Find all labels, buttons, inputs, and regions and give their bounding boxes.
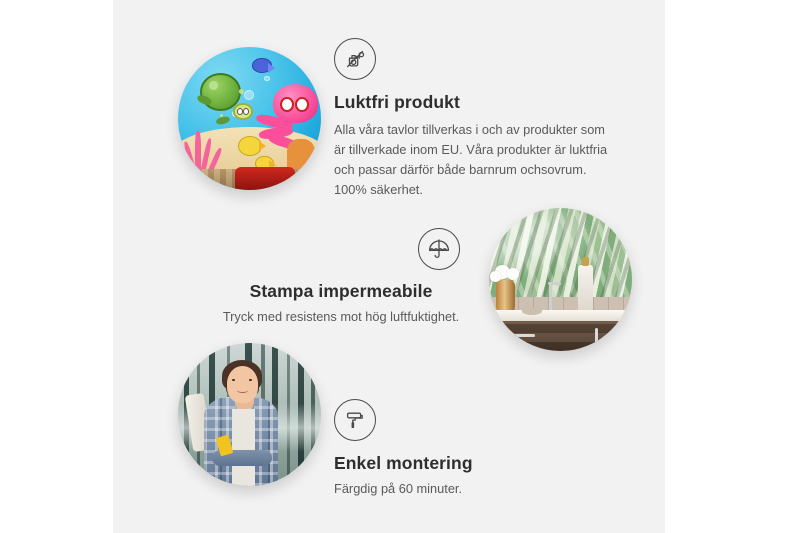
octopus-illustration bbox=[258, 84, 318, 147]
feature-block-waterproof: Stampa impermeabile Tryck med resistens … bbox=[196, 228, 486, 327]
feature-description: Alla våra tavlor tillverkas i och av pro… bbox=[334, 120, 619, 200]
feature-title: Enkel montering bbox=[334, 453, 604, 474]
cabinet-handle bbox=[512, 334, 535, 337]
feature-description: Tryck med resistens mot hög luftfuktighe… bbox=[196, 307, 486, 327]
room-furniture bbox=[235, 167, 295, 190]
coral-illustration bbox=[287, 139, 316, 170]
soap-bottle bbox=[578, 265, 594, 311]
coral-illustration bbox=[187, 129, 224, 172]
feature-title: Stampa impermeabile bbox=[196, 281, 486, 302]
cabinet-handle bbox=[595, 328, 598, 344]
product-image-installer bbox=[178, 343, 321, 486]
turtle-illustration bbox=[197, 73, 254, 122]
paint-roller-icon bbox=[334, 399, 376, 441]
blue-fish-illustration bbox=[252, 58, 272, 72]
person-face bbox=[227, 366, 258, 403]
faucet bbox=[549, 282, 552, 311]
yellow-fish-illustration bbox=[238, 136, 262, 156]
bubble-icon bbox=[264, 76, 270, 82]
white-flowers bbox=[489, 262, 523, 285]
feature-showcase: Luktfri produkt Alla våra tavlor tillver… bbox=[0, 0, 800, 533]
feature-description: Färgdig på 60 minuter. bbox=[334, 479, 604, 499]
person-inner-shirt bbox=[232, 409, 255, 486]
person-smile bbox=[237, 387, 248, 393]
product-image-aquatic bbox=[178, 47, 321, 190]
no-perfume-icon bbox=[334, 38, 376, 80]
product-image-bathroom bbox=[489, 208, 632, 351]
feature-title: Luktfri produkt bbox=[334, 92, 634, 113]
feature-block-mounting: Enkel montering Färgdig på 60 minuter. bbox=[334, 399, 604, 499]
feature-block-odorless: Luktfri produkt Alla våra tavlor tillver… bbox=[334, 38, 634, 200]
umbrella-icon bbox=[418, 228, 460, 270]
person-eyes bbox=[232, 379, 252, 381]
